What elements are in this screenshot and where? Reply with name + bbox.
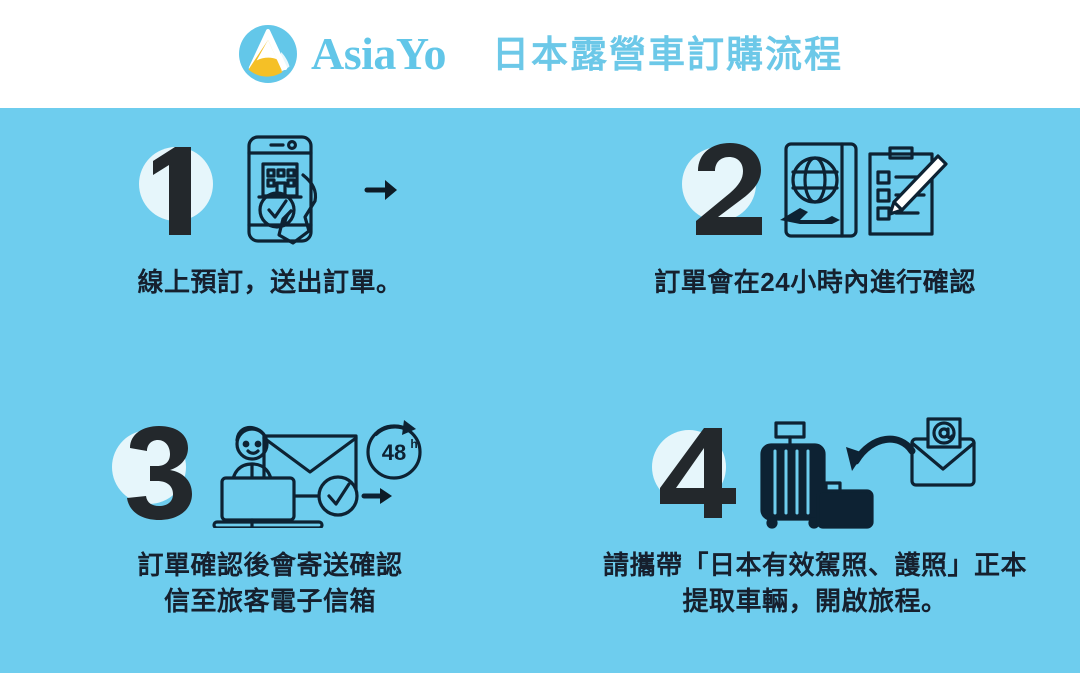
smartphone-booking-icon (235, 131, 355, 249)
step-1-caption: 線上預訂，送出訂單。 (137, 264, 402, 301)
digit-four-icon (652, 418, 748, 528)
step-1-numeral (139, 135, 235, 245)
step-2-numeral (682, 135, 778, 245)
person-computer-confirmation-icon: 48 h (208, 418, 428, 528)
step-4-illustration (652, 413, 978, 533)
step-3-numeral (112, 418, 208, 528)
step-1-illustration (139, 130, 401, 250)
digit-three-icon (112, 418, 208, 528)
step-4-caption: 請攜帶「日本有效駕照、護照」正本 提取車輛，開啟旅程。 (603, 547, 1027, 621)
badge-hours-unit: h (410, 437, 417, 451)
brand-lockup: AsiaYo (237, 23, 446, 85)
page-title: 日本露營車訂購流程 (492, 36, 843, 73)
digit-two-icon (682, 135, 778, 245)
step-2-caption: 訂單會在24小時內進行確認 (654, 264, 975, 301)
step-1: 線上預訂，送出訂單。 (0, 108, 540, 391)
step-4: 請攜帶「日本有效駕照、護照」正本 提取車輛，開啟旅程。 (540, 391, 1080, 673)
step-2: 訂單會在24小時內進行確認 (540, 108, 1080, 391)
steps-grid: 線上預訂，送出訂單。 (0, 108, 1080, 673)
step-3-illustration: 48 h (112, 413, 428, 533)
luggage-pickup-icon (748, 417, 978, 529)
asiayo-mountain-logo-icon (237, 23, 299, 85)
step-3: 48 h 訂單確認後會寄送確認 信至旅客電子信箱 (0, 391, 540, 673)
brand-name: AsiaYo (311, 31, 446, 77)
step-2-illustration (682, 130, 948, 250)
infographic-page: AsiaYo 日本露營車訂購流程 (0, 0, 1080, 673)
badge-hours-value: 48 (382, 440, 406, 465)
arrow-right-icon (361, 170, 401, 210)
step-3-caption: 訂單確認後會寄送確認 信至旅客電子信箱 (137, 547, 402, 621)
passport-clipboard-icon (778, 134, 948, 246)
digit-one-icon (139, 135, 235, 245)
step-4-numeral (652, 418, 748, 528)
header-bar: AsiaYo 日本露營車訂購流程 (0, 0, 1080, 108)
